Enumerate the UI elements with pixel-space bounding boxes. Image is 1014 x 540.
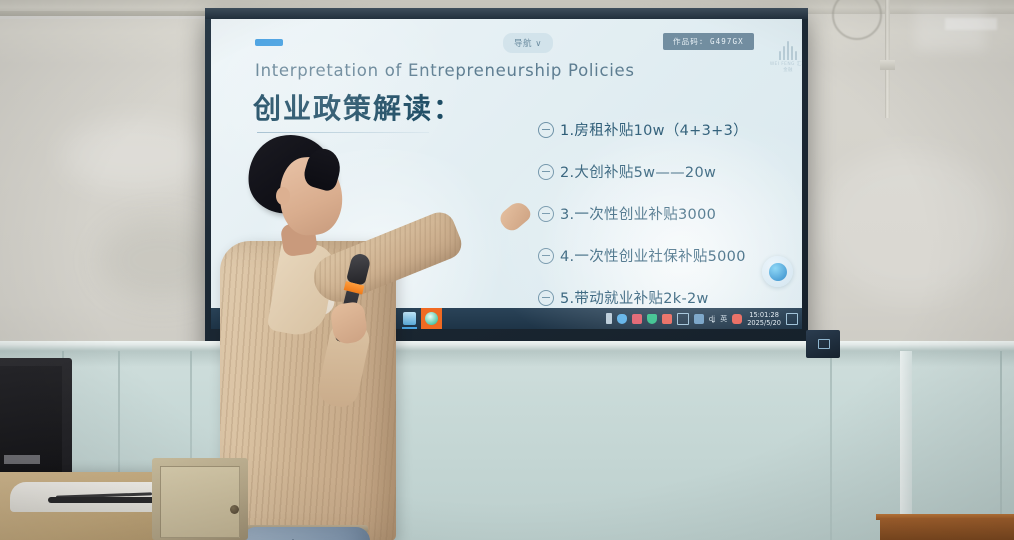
presentation-assistant-badge[interactable] bbox=[762, 256, 793, 287]
antivirus-shield-tray-icon[interactable] bbox=[647, 314, 657, 324]
classroom-photo: Interpretation of Entrepreneurship Polic… bbox=[0, 0, 1014, 540]
watermark-label: WEI FENG 汇丰金融 bbox=[768, 61, 802, 73]
wall-blotch bbox=[60, 120, 210, 190]
cloud-sync-tray-icon[interactable] bbox=[617, 314, 627, 324]
list-item: 4.一次性创业社保补贴5000 bbox=[538, 245, 788, 266]
monitor-label bbox=[4, 455, 40, 464]
minus-circle-icon bbox=[538, 206, 554, 222]
list-item-label: 2.大创补贴5w——20w bbox=[560, 161, 716, 182]
ime-language-indicator[interactable]: 英 bbox=[720, 314, 727, 324]
monitor-glyph-icon bbox=[818, 339, 830, 349]
chair-rail bbox=[0, 344, 1014, 351]
list-item: 2.大创补贴5w——20w bbox=[538, 161, 788, 182]
display-bezel-top bbox=[205, 8, 808, 19]
wall-control-panel[interactable] bbox=[806, 330, 840, 358]
panel-seam bbox=[900, 351, 912, 540]
list-item: 5.带动就业补贴2k-2w bbox=[538, 287, 788, 308]
slide-title-chinese: 创业政策解读： bbox=[253, 87, 463, 127]
list-item: 1.房租补贴10w（4+3+3） bbox=[538, 119, 788, 140]
minus-circle-icon bbox=[538, 248, 554, 264]
crown-molding-highlight bbox=[0, 16, 214, 19]
list-item-label: 1.房租补贴10w（4+3+3） bbox=[560, 119, 748, 140]
slide-bullet-list: 1.房租补贴10w（4+3+3） 2.大创补贴5w——20w 3.一次性创业补贴… bbox=[538, 119, 788, 329]
navigation-dropdown[interactable]: 导航 ∨ bbox=[503, 33, 553, 53]
slide-title-divider bbox=[257, 132, 429, 133]
security-tray-icon[interactable] bbox=[632, 314, 642, 324]
wall-blotch bbox=[100, 220, 220, 300]
cabinet-knob[interactable] bbox=[230, 505, 239, 514]
student-desk bbox=[880, 518, 1014, 540]
clock-time: 15:01:28 bbox=[747, 311, 781, 319]
battery-tray-icon[interactable] bbox=[606, 313, 612, 324]
monitor-tray-icon[interactable] bbox=[677, 313, 689, 325]
list-item-label: 5.带动就业补贴2k-2w bbox=[560, 287, 709, 308]
pipe-clip bbox=[880, 60, 895, 70]
minus-circle-icon bbox=[538, 164, 554, 180]
watermark-mark bbox=[768, 41, 802, 60]
cabinet-door[interactable] bbox=[160, 466, 240, 538]
slide-accent-bar bbox=[255, 39, 283, 46]
list-item-label: 3.一次性创业补贴3000 bbox=[560, 203, 716, 224]
wainscot-shadow bbox=[0, 351, 1014, 367]
notification-tray-icon[interactable] bbox=[694, 314, 704, 324]
podium-cable-tray bbox=[48, 497, 166, 503]
show-desktop-icon[interactable] bbox=[786, 313, 798, 325]
brand-watermark: WEI FENG 汇丰金融 bbox=[768, 41, 802, 73]
ear bbox=[276, 187, 290, 205]
app-tray-icon[interactable] bbox=[662, 314, 672, 324]
monitor-screen bbox=[0, 366, 62, 486]
ime-volume-indicator[interactable]: ɖʝ bbox=[709, 315, 716, 323]
list-item-label: 4.一次性创业社保补贴5000 bbox=[560, 245, 746, 266]
presenter-person bbox=[220, 135, 470, 540]
taskbar-clock[interactable]: 15:01:28 2025/5/20 bbox=[747, 311, 781, 327]
work-code-badge: 作品码: G497GX bbox=[663, 33, 754, 50]
taskbar-tray: ɖʝ 英 15:01:28 2025/5/20 bbox=[606, 311, 798, 327]
panel-seam bbox=[830, 351, 832, 540]
jeans bbox=[242, 527, 370, 540]
wall-sign bbox=[945, 18, 997, 30]
minus-circle-icon bbox=[538, 290, 554, 306]
assistant-globe-icon bbox=[769, 263, 787, 281]
list-item: 3.一次性创业补贴3000 bbox=[538, 203, 788, 224]
minus-circle-icon bbox=[538, 122, 554, 138]
wall-blotch bbox=[820, 150, 1000, 300]
panel-seam bbox=[1000, 351, 1002, 540]
slide-title-english: Interpretation of Entrepreneurship Polic… bbox=[255, 61, 635, 80]
messenger-tray-icon[interactable] bbox=[732, 314, 742, 324]
clock-date: 2025/5/20 bbox=[747, 319, 781, 327]
wall-conduit-pipe bbox=[885, 0, 890, 118]
